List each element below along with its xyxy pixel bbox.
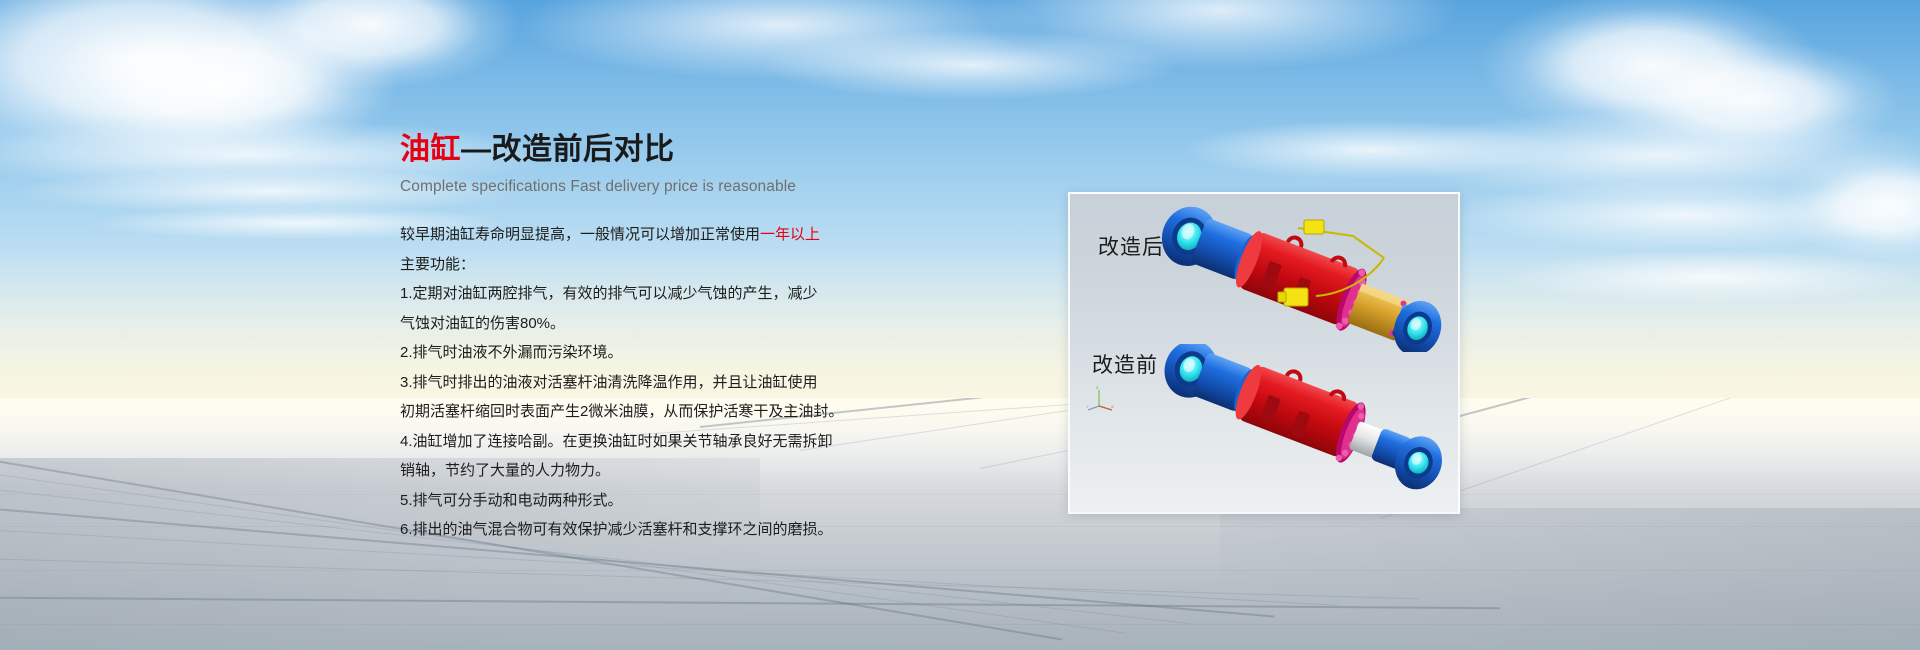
page-title-highlight: 油缸 bbox=[400, 133, 461, 166]
feature-line: 3.排气时排出的油液对活塞杆油清洗降温作用，并且让油缸使用 bbox=[400, 368, 920, 398]
intro-line-1-highlight: 一年以上 bbox=[760, 226, 820, 243]
cylinder-after-modification-render bbox=[1148, 202, 1448, 352]
ground-shading-right bbox=[1220, 508, 1920, 650]
feature-line: 1.定期对油缸两腔排气，有效的排气可以减少气蚀的产生，减少 bbox=[400, 279, 920, 309]
page-title-rest: —改造前后对比 bbox=[461, 133, 675, 166]
feature-line: 销轴，节约了大量的人力物力。 bbox=[400, 456, 920, 486]
feature-line: 4.油缸增加了连接哈副。在更换油缸时如果关节轴承良好无需拆卸 bbox=[400, 427, 920, 457]
copy-block: 油缸—改造前后对比 Complete specifications Fast d… bbox=[400, 130, 920, 545]
svg-text:Y: Y bbox=[1086, 404, 1089, 409]
page-subtitle: Complete specifications Fast delivery pr… bbox=[400, 176, 920, 198]
feature-line: 气蚀对油缸的伤害80%。 bbox=[400, 309, 920, 339]
ground-plaza bbox=[0, 398, 1920, 650]
promo-banner: 油缸—改造前后对比 Complete specifications Fast d… bbox=[0, 0, 1920, 650]
coordinate-axis-icon: Z X Y bbox=[1086, 384, 1116, 414]
feature-line: 5.排气可分手动和电动两种形式。 bbox=[400, 486, 920, 516]
intro-line-1: 较早期油缸寿命明显提高，一般情况可以增加正常使用一年以上 bbox=[400, 220, 920, 250]
feature-line: 初期活塞杆缩回时表面产生2微米油膜，从而保护活寒干及主油封。 bbox=[400, 397, 920, 427]
intro-line-1-text: 较早期油缸寿命明显提高，一般情况可以增加正常使用 bbox=[400, 226, 760, 243]
feature-line: 6.排出的油气混合物可有效保护减少活塞杆和支撑环之间的磨损。 bbox=[400, 515, 920, 545]
page-title: 油缸—改造前后对比 bbox=[400, 130, 920, 170]
svg-text:Z: Z bbox=[1096, 385, 1099, 390]
product-comparison-panel: 改造后 改造前 Z X Y bbox=[1068, 192, 1460, 514]
intro-line-2: 主要功能： bbox=[400, 250, 920, 280]
feature-line: 2.排气时油液不外漏而污染环境。 bbox=[400, 338, 920, 368]
feature-list: 较早期油缸寿命明显提高，一般情况可以增加正常使用一年以上 主要功能： 1.定期对… bbox=[400, 220, 920, 545]
svg-text:X: X bbox=[1111, 404, 1114, 409]
cylinder-before-modification-render bbox=[1146, 344, 1446, 494]
